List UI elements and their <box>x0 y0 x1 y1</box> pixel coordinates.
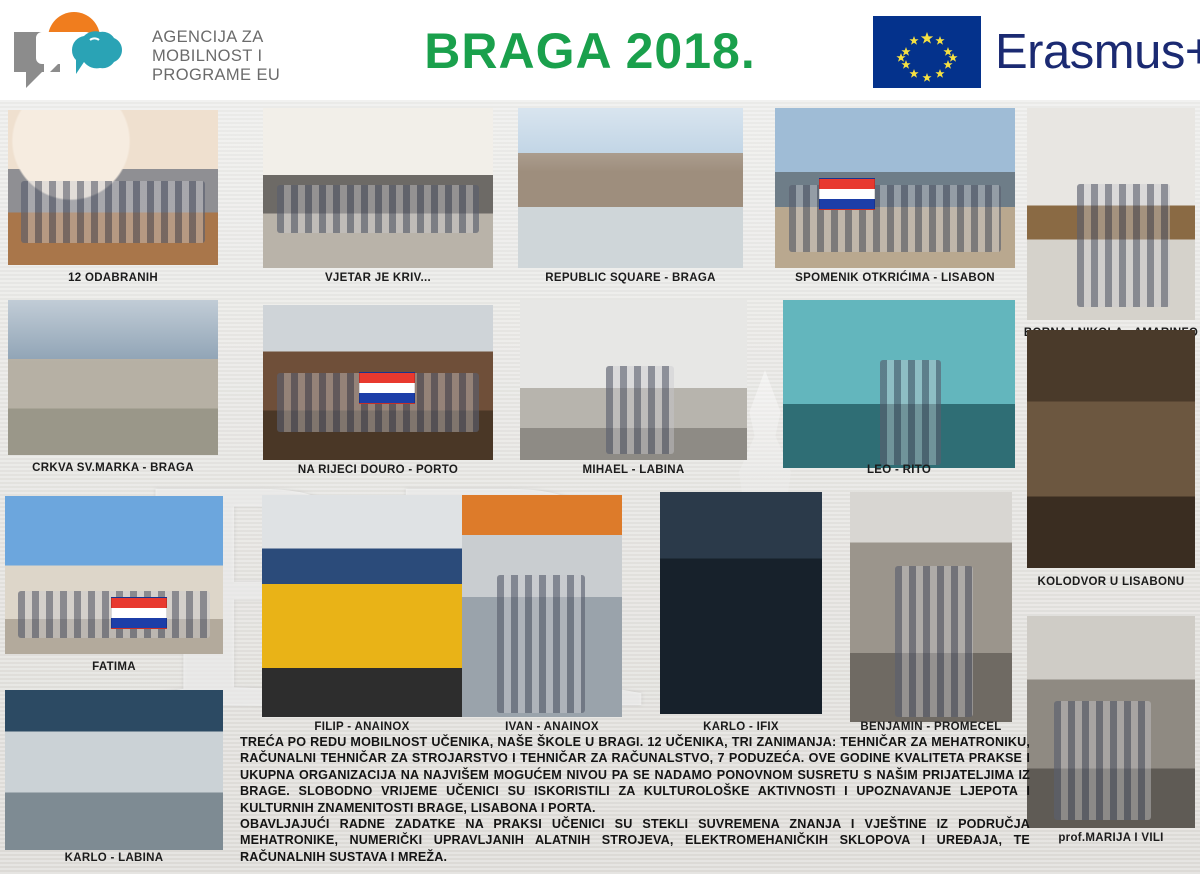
speech-bubbles-brain-logo-icon <box>12 10 137 90</box>
photo-caption: FILIP - ANAINOX <box>257 721 467 733</box>
photo-caption: MIHAEL - LABINA <box>515 464 752 476</box>
photo-caption: BENJAMIN - PROMECEL <box>840 721 1022 733</box>
photo-prof-marija-i-vili <box>1027 616 1195 828</box>
photo-caption: LEO - RITO <box>778 464 1020 476</box>
photo-12-odabranih <box>8 110 218 265</box>
page-title: BRAGA 2018. <box>380 22 800 80</box>
agency-name-text: AGENCIJA ZA MOBILNOST I PROGRAME EU <box>152 28 280 85</box>
photo-spomenik-otkricima-lisabon <box>775 108 1015 268</box>
agency-logo: AGENCIJA ZA MOBILNOST I PROGRAME EU <box>12 8 312 93</box>
photo-caption: KOLODVOR U LISABONU <box>1022 576 1200 588</box>
photo-na-rijeci-douro-porto <box>263 305 493 460</box>
photo-image <box>8 110 218 265</box>
photo-image <box>5 496 223 654</box>
photo-caption: IVAN - ANAINOX <box>462 721 642 733</box>
photo-ivan-anainox <box>462 495 622 717</box>
photo-caption: KARLO - LABINA <box>5 852 223 864</box>
eu-flag-icon <box>873 16 981 88</box>
description-paragraph-1: TREĆA PO REDU MOBILNOST UČENIKA, NAŠE ŠK… <box>240 734 1030 816</box>
photo-image <box>1027 108 1195 320</box>
photo-caption: 12 ODABRANIH <box>8 272 218 284</box>
photo-image <box>660 492 822 714</box>
poster-canvas: BR AGENCIJA ZA MOBILNOST I PROGRAME EU B… <box>0 0 1200 874</box>
photo-image <box>518 108 743 268</box>
photo-fatima <box>5 496 223 654</box>
photo-image <box>263 108 493 268</box>
photo-caption: FATIMA <box>5 661 223 673</box>
description-paragraph-2: OBAVLJAJUĆI RADNE ZADATKE NA PRAKSI UČEN… <box>240 816 1030 865</box>
photo-karlo-labina <box>5 690 223 850</box>
poster-header: AGENCIJA ZA MOBILNOST I PROGRAME EU BRAG… <box>0 0 1200 100</box>
photo-image <box>850 492 1012 722</box>
photo-caption: SPOMENIK OTKRIĆIMA - LISABON <box>765 272 1025 284</box>
photo-image <box>520 300 747 460</box>
erasmus-plus-logo: Erasmus+ <box>873 16 1193 88</box>
photo-caption: KARLO - IFIX <box>650 721 832 733</box>
photo-borna-i-nikola-amarinfo <box>1027 108 1195 320</box>
photo-image <box>1027 330 1195 568</box>
photo-benjamin-promecel <box>850 492 1012 722</box>
photo-image <box>775 108 1015 268</box>
photo-caption: VJETAR JE KRIV... <box>263 272 493 284</box>
photo-caption: REPUBLIC SQUARE - BRAGA <box>508 272 753 284</box>
photo-crkva-sv-marka-braga <box>8 300 218 455</box>
erasmus-plus-wordmark: Erasmus+ <box>995 24 1200 80</box>
photo-image <box>5 690 223 850</box>
photo-vjetar-je-kriv <box>263 108 493 268</box>
photo-image <box>462 495 622 717</box>
photo-image <box>262 495 462 717</box>
photo-caption: prof.MARIJA I VILI <box>1022 832 1200 844</box>
photo-image <box>1027 616 1195 828</box>
photo-kolodvor-u-lisabonu <box>1027 330 1195 568</box>
photo-leo-rito <box>783 300 1015 468</box>
photo-caption: NA RIJECI DOURO - PORTO <box>258 464 498 476</box>
photo-filip-anainox <box>262 495 462 717</box>
photo-republic-square-braga <box>518 108 743 268</box>
photo-image <box>8 300 218 455</box>
photo-mihael-labina <box>520 300 747 460</box>
photo-image <box>263 305 493 460</box>
photo-image <box>783 300 1015 468</box>
description-text-block: TREĆA PO REDU MOBILNOST UČENIKA, NAŠE ŠK… <box>240 734 1030 865</box>
photo-caption: CRKVA SV.MARKA - BRAGA <box>8 462 218 474</box>
photo-karlo-ifix <box>660 492 822 714</box>
